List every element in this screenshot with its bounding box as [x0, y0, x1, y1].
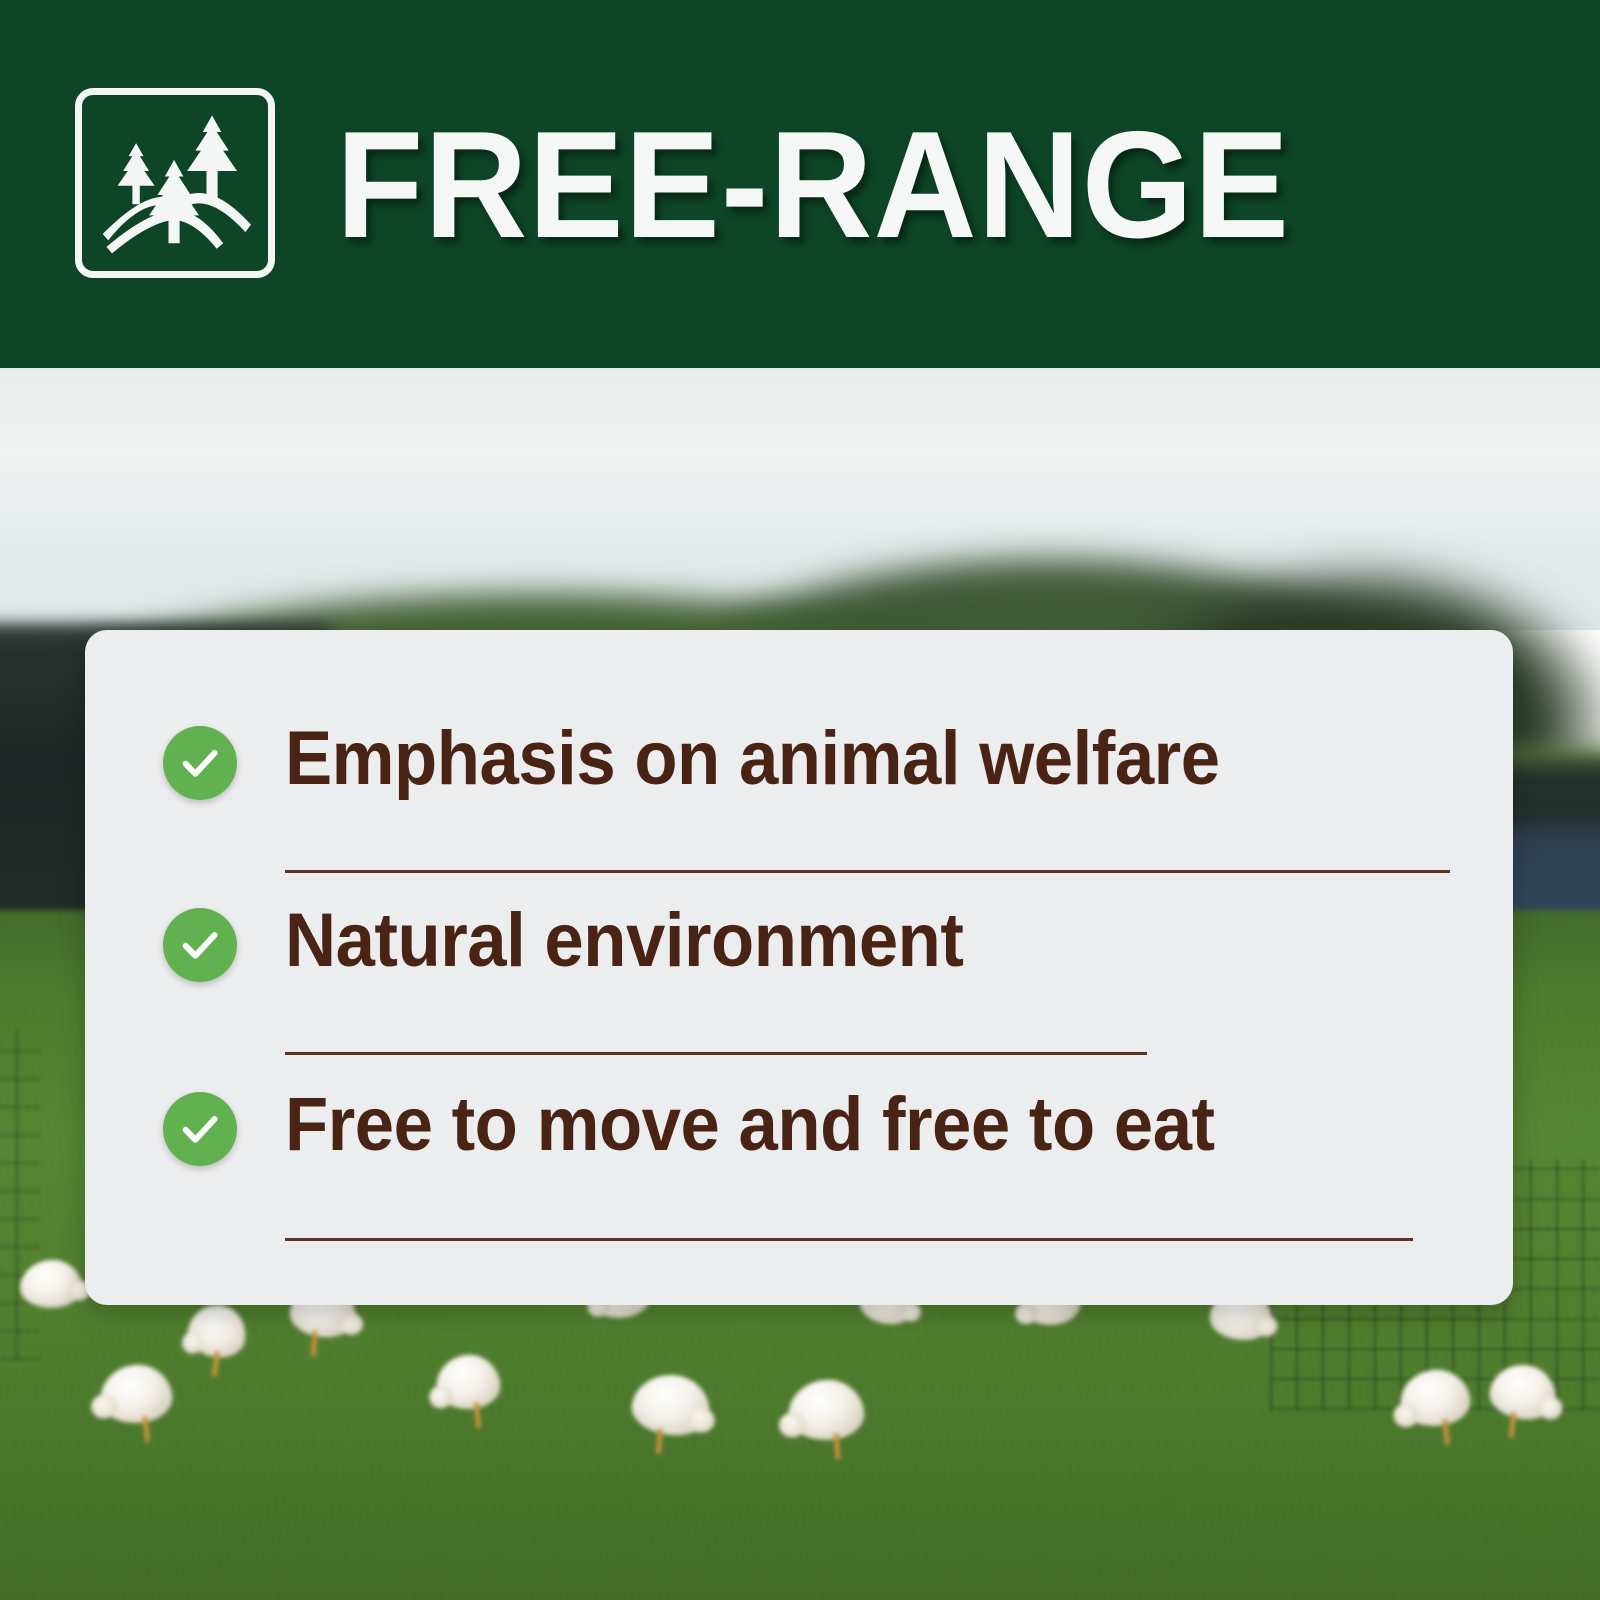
free-range-infographic: FREE-RANGE Emphasis on animal welfare Na… [0, 0, 1600, 1600]
benefits-card: Emphasis on animal welfare Natural envir… [85, 630, 1513, 1305]
row-divider-2 [285, 1052, 1147, 1055]
check-glyph [177, 922, 223, 968]
pine-trees-icon [82, 95, 268, 271]
benefit-label-2: Natural environment [285, 904, 963, 978]
check-glyph [177, 1106, 223, 1152]
page-title: FREE-RANGE [336, 96, 1290, 274]
check-circle-icon [163, 726, 237, 800]
check-glyph [177, 740, 223, 786]
benefit-label-3: Free to move and free to eat [285, 1088, 1215, 1162]
row-divider-3 [285, 1238, 1413, 1241]
row-divider-1 [285, 870, 1450, 873]
check-circle-icon [163, 908, 237, 982]
three-pine-trees-logo [75, 88, 275, 278]
page-header: FREE-RANGE [0, 0, 1600, 368]
wire-fence-left [0, 1030, 40, 1360]
benefit-label-1: Emphasis on animal welfare [285, 722, 1220, 796]
check-circle-icon [163, 1092, 237, 1166]
